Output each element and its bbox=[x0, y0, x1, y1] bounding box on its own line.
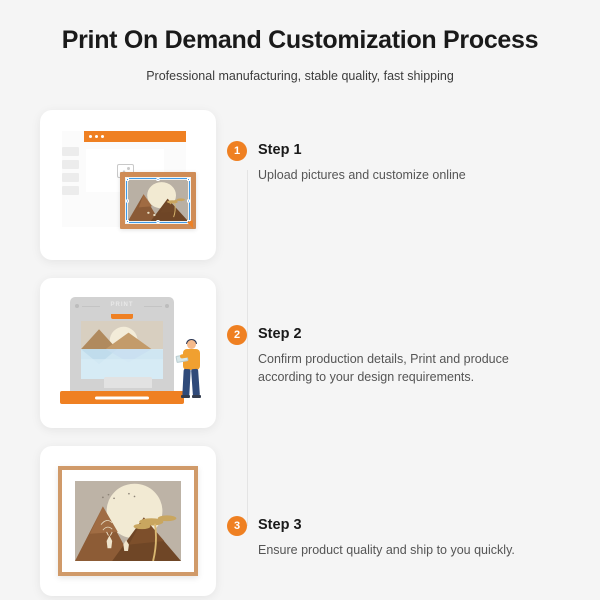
person-head bbox=[187, 340, 196, 349]
step-number-badge: 1 bbox=[227, 141, 247, 161]
step-row: PRINT bbox=[40, 278, 600, 428]
person-leg bbox=[182, 369, 190, 396]
step-title: Step 2 bbox=[258, 326, 509, 342]
window-dot-icon bbox=[95, 135, 98, 138]
person-shoe bbox=[192, 395, 201, 398]
resize-handle[interactable] bbox=[126, 220, 129, 223]
printer-body: PRINT bbox=[70, 297, 174, 391]
page-header: Print On Demand Customization Process Pr… bbox=[0, 0, 600, 83]
page-subtitle: Professional manufacturing, stable quali… bbox=[0, 69, 600, 83]
person-leg bbox=[191, 369, 200, 396]
step-title: Step 1 bbox=[258, 142, 466, 158]
cursor-arrow-icon bbox=[187, 220, 195, 229]
printed-landscape-svg bbox=[81, 321, 163, 379]
step-3-illustration-card bbox=[40, 446, 216, 596]
page-title: Print On Demand Customization Process bbox=[0, 26, 600, 55]
resize-handle[interactable] bbox=[187, 178, 190, 181]
browser-title-bar bbox=[84, 131, 186, 142]
framed-artwork-image bbox=[75, 481, 181, 561]
window-dot-icon bbox=[101, 135, 104, 138]
sidebar-row bbox=[62, 173, 79, 182]
step-title: Step 3 bbox=[258, 517, 515, 533]
step-text-block: Step 3 Ensure product quality and ship t… bbox=[258, 516, 515, 559]
printer-output-tray bbox=[104, 377, 152, 388]
printer-base bbox=[60, 391, 184, 404]
step-text-block: Step 1 Upload pictures and customize onl… bbox=[258, 141, 466, 184]
resize-handle[interactable] bbox=[157, 178, 160, 181]
wooden-picture-frame bbox=[58, 466, 198, 576]
step-description: Upload pictures and customize online bbox=[258, 166, 466, 184]
steps-container: SAVE bbox=[0, 110, 600, 596]
step-1-illustration-card: SAVE bbox=[40, 110, 216, 260]
resize-handle[interactable] bbox=[126, 199, 129, 202]
step-description: Ensure product quality and ship to you q… bbox=[258, 541, 515, 559]
resize-handle[interactable] bbox=[126, 178, 129, 181]
person-shoe bbox=[181, 395, 190, 398]
step-number-badge: 3 bbox=[227, 516, 247, 536]
sidebar-row bbox=[62, 160, 79, 169]
step-number-badge: 2 bbox=[227, 325, 247, 345]
step-row: SAVE bbox=[40, 110, 600, 260]
sidebar-row bbox=[62, 186, 79, 195]
mountain-moon-deer-artwork-svg bbox=[75, 481, 181, 561]
printed-image bbox=[81, 321, 163, 379]
sidebar-row bbox=[62, 147, 79, 156]
step-2-illustration-card: PRINT bbox=[40, 278, 216, 428]
resize-handle[interactable] bbox=[157, 220, 160, 223]
framed-artwork-preview bbox=[120, 172, 196, 229]
step-text-block: Step 2 Confirm production details, Print… bbox=[258, 325, 509, 386]
window-dot-icon bbox=[89, 135, 92, 138]
editor-sidebar bbox=[62, 147, 79, 207]
selection-outline bbox=[126, 178, 190, 223]
person-with-laptop bbox=[180, 340, 206, 400]
step-badge-column: 3 bbox=[216, 516, 258, 536]
step-badge-column: 2 bbox=[216, 325, 258, 345]
step-badge-column: 1 bbox=[216, 141, 258, 161]
step-description: Confirm production details, Print and pr… bbox=[258, 350, 509, 386]
step-row: 3 Step 3 Ensure product quality and ship… bbox=[40, 446, 600, 596]
resize-handle[interactable] bbox=[187, 199, 190, 202]
printer-paper-slot bbox=[111, 314, 133, 319]
printer-brand-label: PRINT bbox=[70, 302, 174, 308]
